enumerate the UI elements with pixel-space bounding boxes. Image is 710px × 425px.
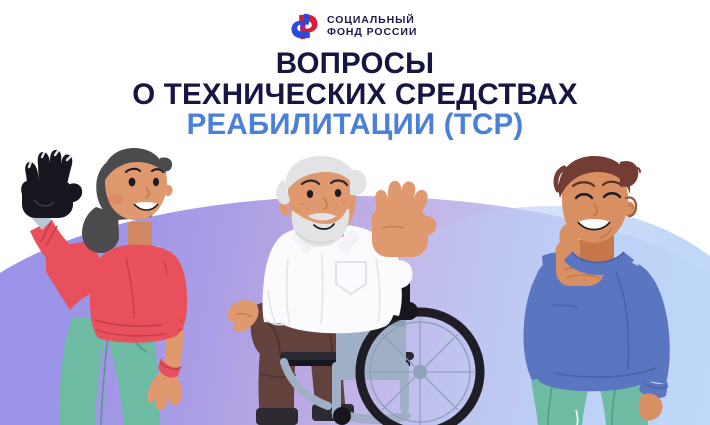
figure-woman-with-prosthetic-arm [0,112,230,425]
figure-elderly-man-in-wheelchair [224,166,514,425]
title-line-2: О ТЕХНИЧЕСКИХ СРЕДСТВАХ [0,80,710,111]
poster-canvas: СОЦИАЛЬНЫЙ ФОНД РОССИИ ВОПРОСЫ О ТЕХНИЧЕ… [0,0,710,425]
poster-title: ВОПРОСЫ О ТЕХНИЧЕСКИХ СРЕДСТВАХ РЕАБИЛИТ… [0,49,710,141]
prosthetic-hand-icon [21,150,82,218]
logo-line-1: СОЦИАЛЬНЫЙ [327,15,417,26]
sfr-logo-text: СОЦИАЛЬНЫЙ ФОНД РОССИИ [327,15,417,38]
logo-line-2: ФОНД РОССИИ [327,27,417,38]
title-line-3: РЕАБИЛИТАЦИИ (ТСР) [0,110,710,141]
sfr-logo: СОЦИАЛЬНЫЙ ФОНД РОССИИ [289,11,417,42]
figure-young-man-with-hearing-aid [520,160,710,425]
sfr-monogram-icon [289,11,320,42]
title-line-1: ВОПРОСЫ [0,49,710,80]
